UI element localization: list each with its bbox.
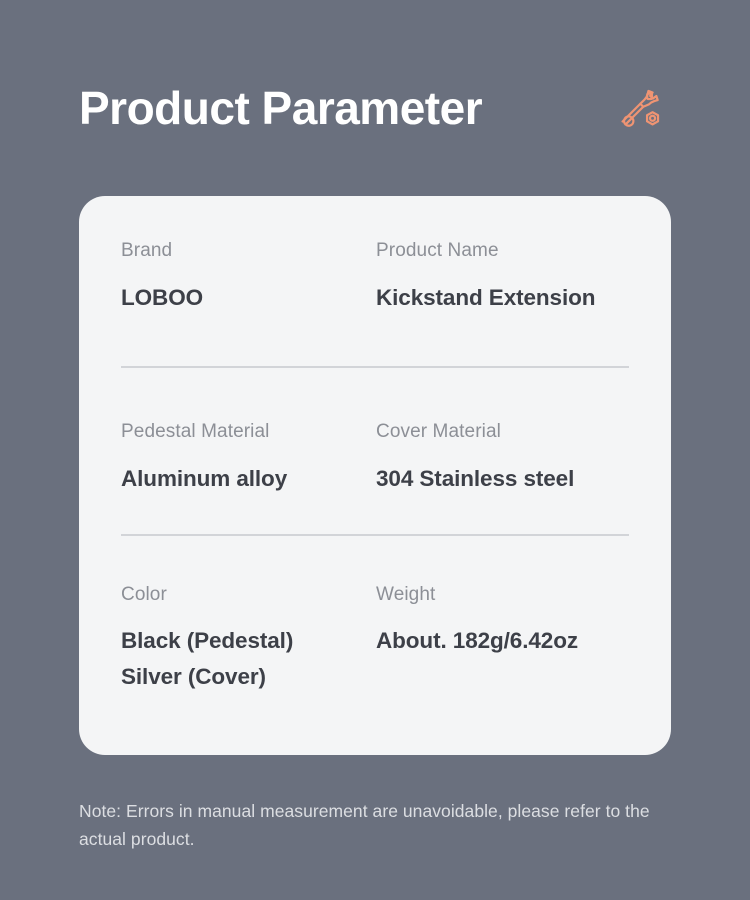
spec-value: About. 182g/6.42oz: [376, 623, 629, 659]
wrench-icon: [615, 81, 669, 135]
spacer: [121, 368, 629, 421]
spec-value: Black (Pedestal) Silver (Cover): [121, 623, 376, 694]
spec-cell-pedestal-material: Pedestal Material Aluminum alloy: [121, 421, 376, 496]
spec-label: Brand: [121, 240, 376, 263]
spec-value: LOBOO: [121, 280, 376, 316]
spec-row: Color Black (Pedestal) Silver (Cover) We…: [121, 584, 629, 695]
spec-row: Pedestal Material Aluminum alloy Cover M…: [121, 421, 629, 496]
measurement-note: Note: Errors in manual measurement are u…: [79, 797, 679, 854]
spacer: [121, 497, 629, 534]
spec-label: Color: [121, 584, 376, 607]
spec-cell-color: Color Black (Pedestal) Silver (Cover): [121, 584, 376, 695]
spec-value: Aluminum alloy: [121, 461, 376, 497]
spacer: [121, 315, 629, 366]
spec-label: Product Name: [376, 240, 629, 263]
product-parameter-page: Product Parameter Brand LOBOO: [0, 0, 750, 900]
spec-value: Kickstand Extension: [376, 280, 629, 316]
spec-cell-product-name: Product Name Kickstand Extension: [376, 240, 629, 315]
spec-card: Brand LOBOO Product Name Kickstand Exten…: [79, 196, 671, 755]
page-header: Product Parameter: [79, 72, 671, 144]
spec-label: Cover Material: [376, 421, 629, 444]
page-title: Product Parameter: [79, 85, 482, 131]
spec-value: 304 Stainless steel: [376, 461, 629, 497]
spacer: [121, 536, 629, 584]
spec-cell-brand: Brand LOBOO: [121, 240, 376, 315]
spec-row: Brand LOBOO Product Name Kickstand Exten…: [121, 240, 629, 315]
spec-label: Weight: [376, 584, 629, 607]
spec-cell-cover-material: Cover Material 304 Stainless steel: [376, 421, 629, 496]
spec-cell-weight: Weight About. 182g/6.42oz: [376, 584, 629, 695]
spec-label: Pedestal Material: [121, 421, 376, 444]
